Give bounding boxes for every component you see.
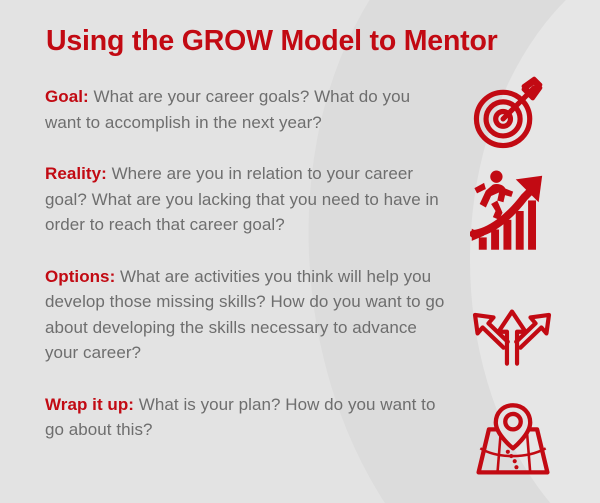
sections-list: Goal: What are your career goals? What d…: [45, 84, 445, 443]
growth-chart-runner-icon: [470, 166, 558, 256]
section-goal-body: What are your career goals? What do you …: [45, 87, 410, 132]
page-title: Using the GROW Model to Mentor: [46, 25, 566, 58]
three-way-arrows-icon: [470, 282, 554, 368]
map-location-pin-icon: [470, 394, 556, 482]
section-goal: Goal: What are your career goals? What d…: [45, 84, 445, 135]
section-goal-lead: Goal:: [45, 87, 89, 106]
section-options: Options: What are activities you think w…: [45, 264, 445, 366]
target-arrow-icon: [470, 76, 548, 150]
section-wrap-it-up: Wrap it up: What is your plan? How do yo…: [45, 392, 445, 443]
section-reality: Reality: Where are you in relation to yo…: [45, 161, 445, 238]
section-wrap-it-up-lead: Wrap it up:: [45, 395, 134, 414]
infographic-canvas: Using the GROW Model to Mentor Goal: Wha…: [0, 0, 600, 503]
section-reality-lead: Reality:: [45, 164, 107, 183]
section-options-lead: Options:: [45, 267, 115, 286]
